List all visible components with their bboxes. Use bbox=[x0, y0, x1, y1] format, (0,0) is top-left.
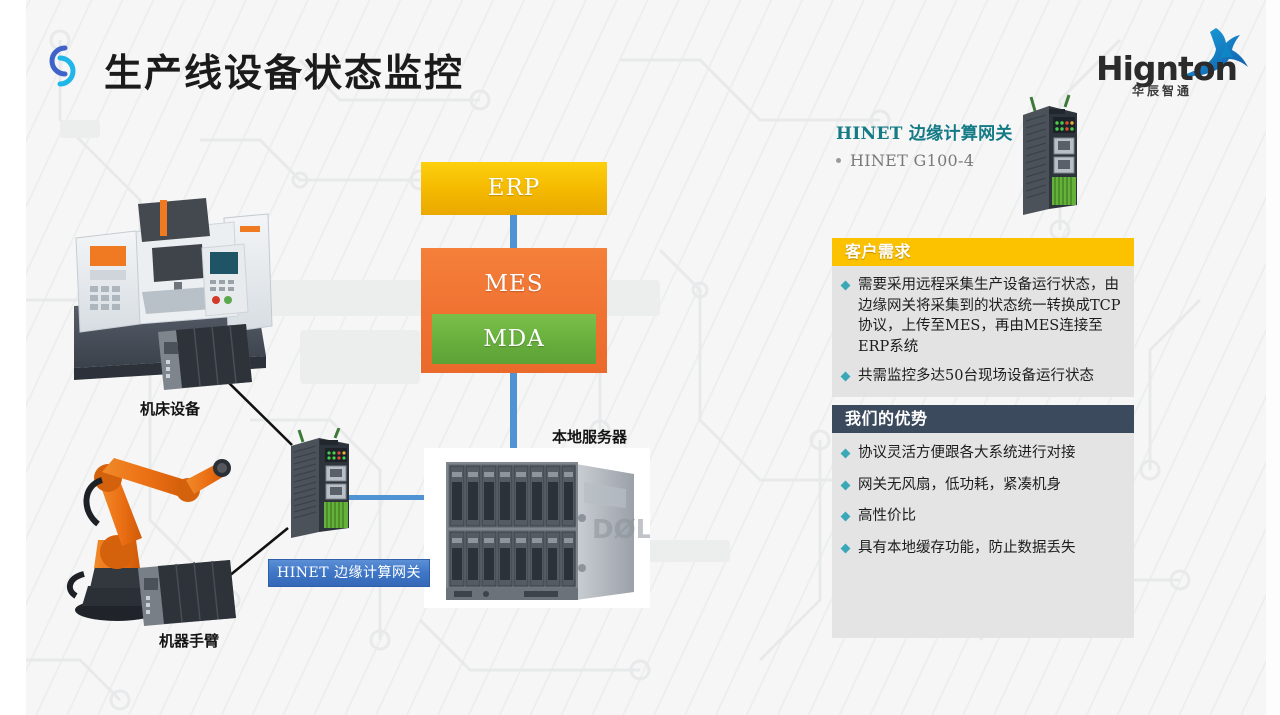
product-intro: HINET 边缘计算网关 HINET G100-4 bbox=[832, 93, 1134, 170]
system-stack: ERP MES MDA bbox=[421, 162, 607, 373]
block-mes-label: MES bbox=[421, 259, 607, 315]
diamond-bullet-icon bbox=[841, 512, 851, 522]
label-machine: 机床设备 bbox=[140, 398, 200, 419]
product-title: HINET 边缘计算网关 bbox=[836, 119, 1134, 144]
list-item: 协议灵活方便跟各大系统进行对接 bbox=[842, 443, 1122, 464]
list-item-text: 高性价比 bbox=[858, 506, 916, 527]
plc-cabinet-icon bbox=[158, 324, 252, 390]
block-mes[interactable]: MES MDA bbox=[421, 248, 607, 373]
customer-needs-body: 需要采用远程采集生产设备运行状态，由边缘网关将采集到的状态统一转换成TCP协议，… bbox=[832, 266, 1134, 397]
list-item: 需要采用远程采集生产设备运行状态，由边缘网关将采集到的状态统一转换成TCP协议，… bbox=[842, 275, 1122, 357]
blade-server-icon: DØLL bbox=[424, 448, 650, 608]
list-item-text: 网关无风扇，低功耗，紧凑机身 bbox=[858, 475, 1061, 496]
interlocking-circles-logo-icon bbox=[38, 38, 94, 94]
advantages-heading: 我们的优势 bbox=[832, 405, 1134, 433]
page-title: 生产线设备状态监控 bbox=[104, 42, 464, 97]
customer-needs-heading: 客户需求 bbox=[832, 238, 1134, 266]
diamond-bullet-icon bbox=[841, 449, 851, 459]
brand-name-cn: 华辰智通 bbox=[1132, 82, 1192, 99]
advantages-panel: 我们的优势 协议灵活方便跟各大系统进行对接 网关无风扇，低功耗，紧凑机身 高性价… bbox=[832, 405, 1134, 583]
list-item-text: 协议灵活方便跟各大系统进行对接 bbox=[858, 443, 1076, 464]
advantages-body: 协议灵活方便跟各大系统进行对接 网关无风扇，低功耗，紧凑机身 高性价比 具有本地… bbox=[832, 433, 1134, 583]
edge-gateway-device-icon bbox=[1019, 93, 1081, 219]
brand-logo: Hignton 华辰智通 bbox=[1096, 30, 1246, 96]
list-item: 具有本地缓存功能，防止数据丢失 bbox=[842, 538, 1122, 559]
slide-canvas: 生产线设备状态监控 Hignton 华辰智通 bbox=[0, 0, 1280, 715]
badge-hinet-gateway[interactable]: HINET 边缘计算网关 bbox=[268, 559, 430, 587]
list-item-text: 具有本地缓存功能，防止数据丢失 bbox=[858, 538, 1076, 559]
product-model-text: HINET G100-4 bbox=[850, 151, 974, 170]
diamond-bullet-icon bbox=[841, 480, 851, 490]
block-mda[interactable]: MDA bbox=[432, 314, 596, 364]
plc-cabinet-icon bbox=[138, 560, 236, 626]
list-item-text: 共需监控多达50台现场设备运行状态 bbox=[858, 366, 1094, 387]
robot-arm-icon bbox=[62, 428, 272, 628]
edge-gateway-device-icon bbox=[279, 428, 357, 540]
diamond-bullet-icon bbox=[841, 281, 851, 291]
list-item: 网关无风扇，低功耗，紧凑机身 bbox=[842, 475, 1122, 496]
list-item: 共需监控多达50台现场设备运行状态 bbox=[842, 366, 1122, 387]
block-erp[interactable]: ERP bbox=[421, 162, 607, 215]
diamond-bullet-icon bbox=[841, 543, 851, 553]
list-item: 高性价比 bbox=[842, 506, 1122, 527]
product-model: HINET G100-4 bbox=[836, 151, 1134, 170]
label-server: 本地服务器 bbox=[552, 426, 627, 447]
cnc-machine-icon bbox=[56, 196, 318, 392]
customer-needs-panel: 客户需求 需要采用远程采集生产设备运行状态，由边缘网关将采集到的状态统一转换成T… bbox=[832, 238, 1134, 397]
bullet-dot-icon bbox=[836, 158, 841, 163]
label-robot: 机器手臂 bbox=[159, 630, 219, 651]
list-item-text: 需要采用远程采集生产设备运行状态，由边缘网关将采集到的状态统一转换成TCP协议，… bbox=[858, 275, 1122, 357]
diamond-bullet-icon bbox=[841, 372, 851, 382]
connector-mes-server bbox=[510, 373, 517, 453]
brand-name: Hignton bbox=[1096, 52, 1237, 85]
svg-text:DØLL: DØLL bbox=[592, 515, 650, 545]
